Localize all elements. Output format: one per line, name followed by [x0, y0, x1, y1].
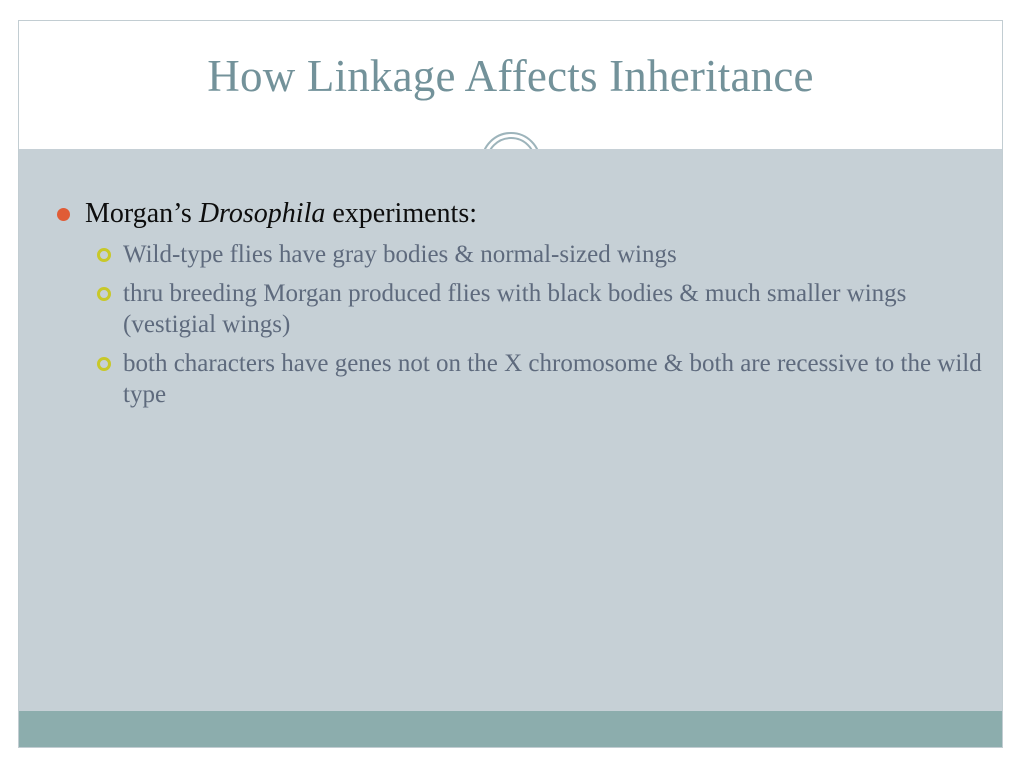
list-item: thru breeding Morgan produced flies with… — [35, 278, 984, 341]
list-item: Wild-type flies have gray bodies & norma… — [35, 239, 984, 271]
bullet-text: thru breeding Morgan produced flies with… — [123, 280, 906, 339]
bullet-text-segment: Morgan’s — [85, 198, 199, 229]
slide-title: How Linkage Affects Inheritance — [19, 53, 1002, 100]
bullet-text-segment-tail: experiments: — [325, 198, 477, 229]
hollow-circle-bullet-icon — [97, 357, 111, 371]
hollow-circle-bullet-icon — [97, 287, 111, 301]
slide-root: How Linkage Affects Inheritance Morgan’s… — [0, 0, 1024, 768]
slide-body: Morgan’s Drosophila experiments: Wild-ty… — [19, 149, 1002, 747]
list-item: both characters have genes not on the X … — [35, 348, 984, 411]
hollow-circle-bullet-icon — [97, 248, 111, 262]
slide-content-list: Morgan’s Drosophila experiments: Wild-ty… — [35, 197, 984, 418]
bottom-accent-band — [19, 711, 1002, 747]
bullet-text: both characters have genes not on the X … — [123, 350, 982, 409]
bullet-text: Wild-type flies have gray bodies & norma… — [123, 241, 677, 268]
list-item: Morgan’s Drosophila experiments: — [35, 197, 984, 231]
filled-circle-bullet-icon — [57, 208, 70, 221]
presentation-slide: How Linkage Affects Inheritance Morgan’s… — [18, 20, 1003, 748]
bullet-text-italic-term: Drosophila — [199, 198, 326, 229]
